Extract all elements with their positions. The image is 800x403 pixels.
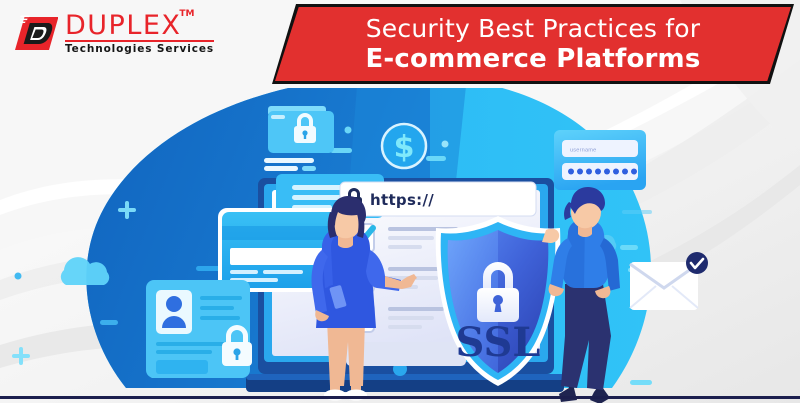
brand-logo-text: DUPLEX TM Technologies Services	[65, 11, 214, 55]
username-field-value: username	[570, 148, 596, 154]
browser-url-bar: https://	[340, 182, 536, 216]
page-title-line2: E-commerce Platforms	[365, 44, 700, 75]
url-text: https://	[370, 191, 434, 209]
ground-line	[0, 396, 800, 399]
dollar-circle-icon: $	[382, 124, 426, 168]
trademark-symbol: TM	[179, 9, 194, 19]
ssl-label-text: SSL	[455, 319, 540, 366]
page-header: DUPLEX TM Technologies Services Security…	[0, 0, 800, 92]
brand-name: DUPLEX	[65, 12, 181, 39]
brand-logo[interactable]: DUPLEX TM Technologies Services	[14, 11, 214, 55]
login-card: username	[554, 130, 646, 190]
brand-subtitle: Technologies Services	[65, 44, 214, 55]
svg-text:$: $	[394, 130, 415, 165]
page-title-line1: Security Best Practices for	[366, 14, 701, 44]
title-banner: Security Best Practices for E-commerce P…	[272, 4, 794, 84]
duplex-d-logo-icon	[14, 12, 58, 54]
page-canvas: DUPLEX TM Technologies Services Security…	[0, 0, 800, 403]
hero-illustration: $ https://	[0, 88, 800, 403]
id-card-icon	[146, 280, 252, 378]
